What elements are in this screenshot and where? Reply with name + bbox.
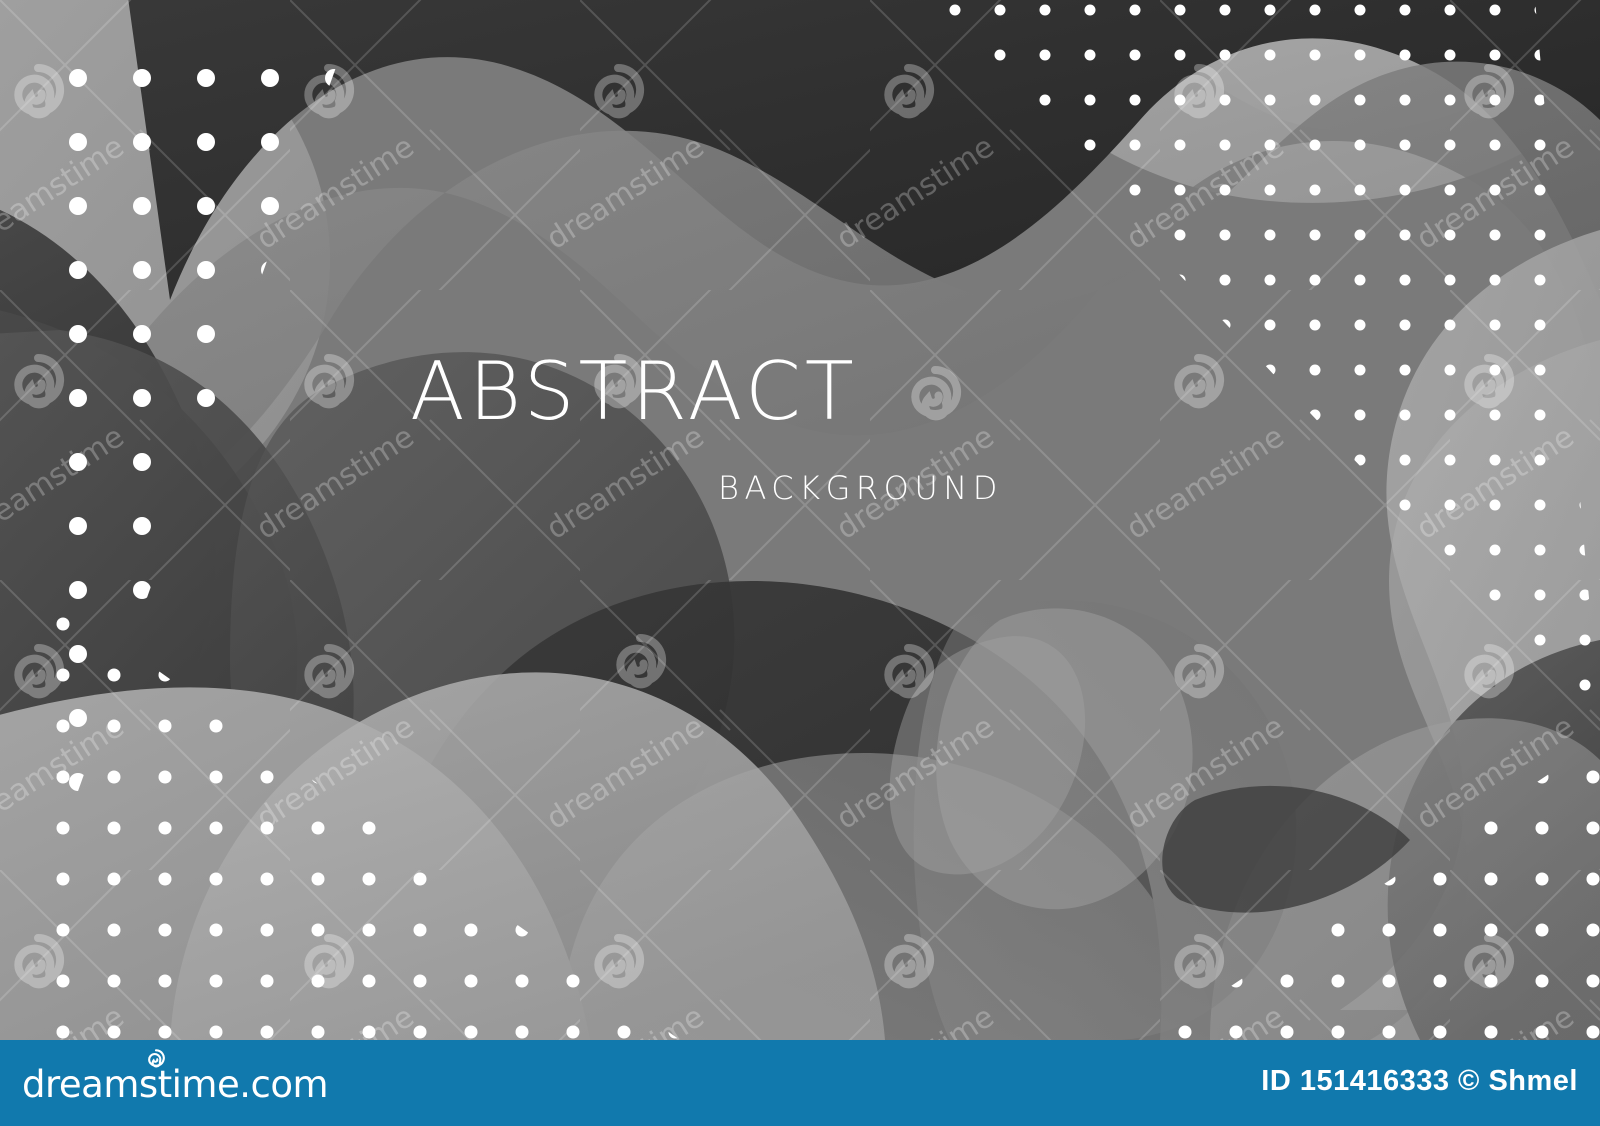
artwork-subtitle: BACKGROUND — [718, 472, 1003, 504]
abstract-shapes-layer — [0, 0, 1600, 1040]
image-credit: ID 151416333 © Shmel — [1261, 1065, 1578, 1098]
stock-photo-preview: ABSTRACT BACKGROUND dreamstime — [0, 0, 1600, 1126]
abstract-background-artwork: ABSTRACT BACKGROUND dreamstime — [0, 0, 1600, 1040]
artwork-title: ABSTRACT — [410, 352, 858, 432]
dreamstime-logo[interactable]: dreamstime.com — [22, 1066, 328, 1106]
spiral-logo-icon — [146, 1048, 166, 1068]
dreamstime-wordmark: dreamstime.com — [22, 1066, 328, 1103]
